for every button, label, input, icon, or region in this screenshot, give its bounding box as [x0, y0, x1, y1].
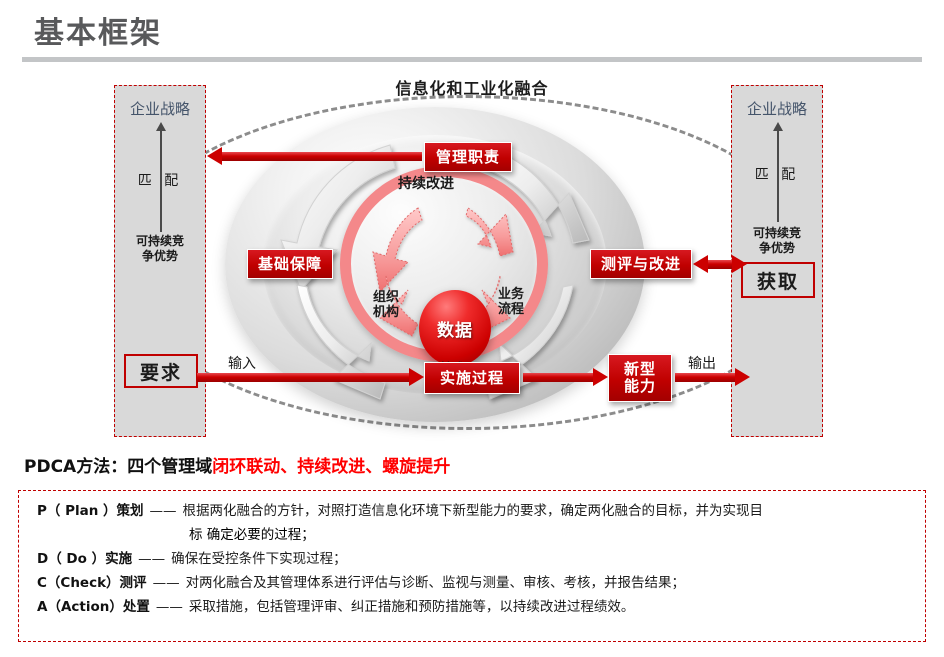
pdca-plan-desc: 根据两化融合的方针，对照打造信息化环境下新型能力的要求，确定两化融合的目标，并为…: [183, 501, 911, 521]
right-panel-advantage-line1: 可持续竞: [732, 226, 822, 240]
right-panel-strategy-label: 企业战略: [732, 98, 822, 119]
foundation-guarantee-box[interactable]: 基础保障: [247, 249, 333, 279]
arrow-head-right-icon: [735, 368, 750, 386]
pdca-plan-key: P（ Plan ）策划: [37, 501, 144, 521]
arrow-shaft: [197, 373, 409, 382]
pdca-line-plan: P（ Plan ）策划 —— 根据两化融合的方针，对照打造信息化环境下新型能力的…: [37, 501, 911, 521]
right-panel-match-label: 匹 配: [732, 164, 822, 184]
arrow-implementation-to-capability: [523, 373, 593, 382]
pdca-action-desc: 采取措施，包括管理评审、纠正措施和预防措施等，以持续改进过程绩效。: [189, 597, 911, 617]
pdca-do-desc: 确保在受控条件下实现过程；: [171, 549, 911, 569]
pdca-plan-continuation: 标 确定必要的过程；: [37, 525, 911, 545]
arrow-shaft: [523, 373, 593, 382]
arrow-requirement-to-implementation: [197, 373, 409, 382]
arrow-head-right-icon: [732, 255, 747, 273]
pdca-heading-red: 闭环联动、持续改进、螺旋提升: [212, 457, 450, 477]
arrow-shaft: [675, 373, 735, 382]
page-title: 基本框架: [34, 8, 162, 52]
arrow-shaft: [222, 152, 422, 161]
pdca-check-key: C（Check）测评: [37, 573, 147, 593]
flow-label-input: 输入: [228, 353, 256, 373]
left-strategy-panel: 企业战略 匹 配 可持续竞 争优势 要求: [114, 85, 206, 437]
new-capability-line2: 能力: [624, 378, 656, 395]
evaluation-improvement-box[interactable]: 测评与改进: [590, 249, 692, 279]
arrow-shaft: [708, 260, 732, 269]
flow-label-output: 输出: [688, 353, 716, 373]
left-panel-advantage-line1: 可持续竞: [115, 234, 205, 248]
cycle-label-improvement: 持续改进: [398, 177, 454, 192]
pdca-line-do: D（ Do ）实施 —— 确保在受控条件下实现过程；: [37, 549, 911, 569]
arrow-head-right-icon: [593, 368, 608, 386]
arrow-management-to-strategy: [222, 152, 422, 161]
pdca-description-box: P（ Plan ）策划 —— 根据两化融合的方针，对照打造信息化环境下新型能力的…: [18, 490, 926, 642]
pdca-plan-dash: ——: [144, 501, 183, 521]
new-capability-box[interactable]: 新型 能力: [608, 354, 672, 402]
pdca-do-dash: ——: [132, 549, 171, 569]
pdca-line-action: A（Action）处置 —— 采取措施，包括管理评审、纠正措施和预防措施等，以持…: [37, 597, 911, 617]
pdca-check-dash: ——: [147, 573, 186, 593]
page-header: 基本框架: [0, 0, 944, 62]
data-center-label: 数据: [437, 316, 473, 341]
cycle-label-business-line1: 业务: [498, 287, 524, 302]
arrow-capability-to-output: [675, 373, 735, 382]
requirement-box[interactable]: 要求: [124, 354, 198, 388]
pdca-line-check: C（Check）测评 —— 对两化融合及其管理体系进行评估与诊断、监视与测量、审…: [37, 573, 911, 593]
arrow-head-left-icon: [207, 147, 222, 165]
left-panel-strategy-label: 企业战略: [115, 98, 205, 119]
pdca-heading: PDCA方法：四个管理域闭环联动、持续改进、螺旋提升: [24, 452, 450, 477]
arrow-head-right-icon: [409, 368, 424, 386]
management-responsibility-box[interactable]: 管理职责: [424, 142, 512, 172]
pdca-do-key: D（ Do ）实施: [37, 549, 132, 569]
pdca-action-dash: ——: [150, 597, 189, 617]
right-panel-advantage-line2: 争优势: [732, 241, 822, 255]
framework-diagram: 信息化和工业化融合 企业战略 匹 配 可持续竞 争优势 要求 企业战略 匹 配 …: [0, 62, 944, 444]
implementation-process-box[interactable]: 实施过程: [424, 362, 520, 394]
new-capability-line1: 新型: [624, 361, 656, 378]
pdca-action-key: A（Action）处置: [37, 597, 150, 617]
left-panel-advantage-line2: 争优势: [115, 249, 205, 263]
cycle-label-business-line2: 流程: [498, 302, 524, 317]
cycle-label-organization-line1: 组织: [373, 290, 399, 305]
arrow-evaluation-to-acquire: [708, 260, 732, 269]
cycle-label-organization-line2: 机构: [373, 305, 399, 320]
pdca-check-desc: 对两化融合及其管理体系进行评估与诊断、监视与测量、审核、考核，并报告结果；: [186, 573, 911, 593]
acquire-box[interactable]: 获取: [741, 262, 815, 298]
data-center-sphere[interactable]: 数据: [419, 290, 491, 366]
left-panel-match-label: 匹 配: [115, 170, 205, 190]
pdca-heading-black: PDCA方法：四个管理域: [24, 457, 212, 477]
arrow-head-left-icon: [693, 255, 708, 273]
